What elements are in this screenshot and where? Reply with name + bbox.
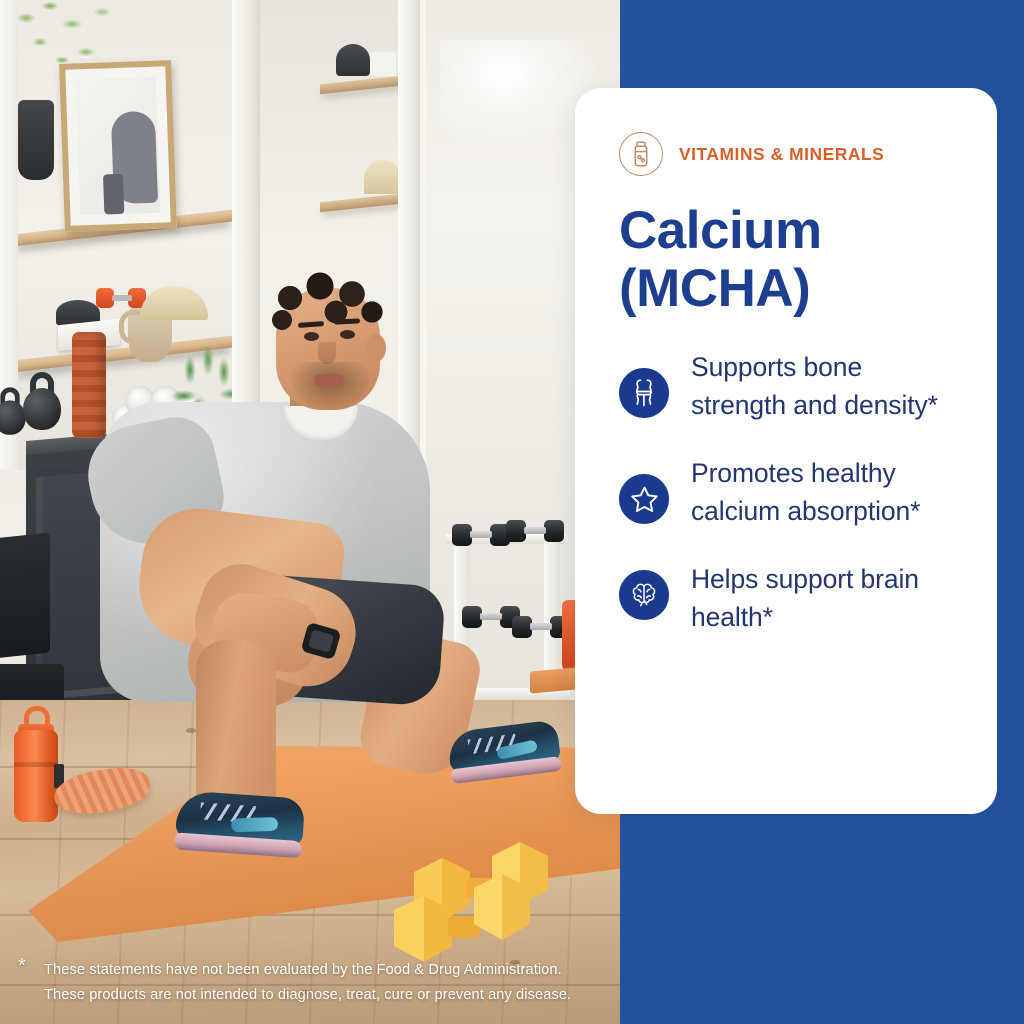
disclaimer-line-2: These products are not intended to diagn…	[44, 983, 618, 1008]
benefit-text: Promotes healthy calcium absorption*	[691, 454, 941, 530]
star-icon	[619, 474, 669, 524]
supplement-bottle-icon	[619, 132, 663, 176]
title-line-1: Calcium	[619, 202, 957, 260]
kettlebell	[20, 372, 64, 430]
rack-post	[544, 540, 560, 690]
art-canvas	[76, 77, 161, 216]
mouth	[314, 374, 344, 387]
asterisk-marker: *	[18, 956, 26, 976]
decor-book	[370, 52, 396, 76]
yellow-hex-dumbbells	[386, 836, 576, 966]
art-shape	[103, 174, 124, 215]
benefit-text: Helps support brain health*	[691, 560, 941, 636]
hair	[268, 272, 390, 350]
title-line-2: (MCHA)	[619, 260, 957, 318]
disclaimer-line-1: These statements have not been evaluated…	[44, 958, 618, 983]
water-bottle	[14, 706, 58, 822]
shoe-stripe	[231, 817, 278, 832]
bone-joint-icon	[619, 368, 669, 418]
bottle-band	[14, 762, 58, 767]
product-info-card: VITAMINS & MINERALS Calcium (MCHA)	[575, 88, 997, 814]
page-title: Calcium (MCHA)	[619, 202, 957, 318]
benefit-item: Helps support brain health*	[619, 560, 957, 636]
person	[84, 270, 524, 740]
shoe	[174, 784, 305, 858]
gym-equipment	[0, 533, 50, 660]
decor-stone	[336, 44, 370, 76]
benefits-list: Supports bone strength and density* Prom…	[619, 348, 957, 636]
poster-canvas: * These statements have not been evaluat…	[0, 0, 1024, 1024]
plant-pot	[18, 100, 54, 180]
brain-icon	[619, 570, 669, 620]
decor-dome	[364, 160, 402, 194]
category-eyebrow: VITAMINS & MINERALS	[619, 132, 957, 176]
category-label: VITAMINS & MINERALS	[679, 144, 884, 165]
benefit-item: Promotes healthy calcium absorption*	[619, 454, 957, 530]
bottle-body	[14, 730, 58, 822]
benefit-item: Supports bone strength and density*	[619, 348, 957, 424]
framed-art	[59, 60, 177, 232]
fda-disclaimer: * These statements have not been evaluat…	[18, 958, 618, 1008]
kettlebell-body	[23, 388, 61, 430]
benefit-text: Supports bone strength and density*	[691, 348, 941, 424]
lifestyle-photo: * These statements have not been evaluat…	[0, 0, 620, 1024]
